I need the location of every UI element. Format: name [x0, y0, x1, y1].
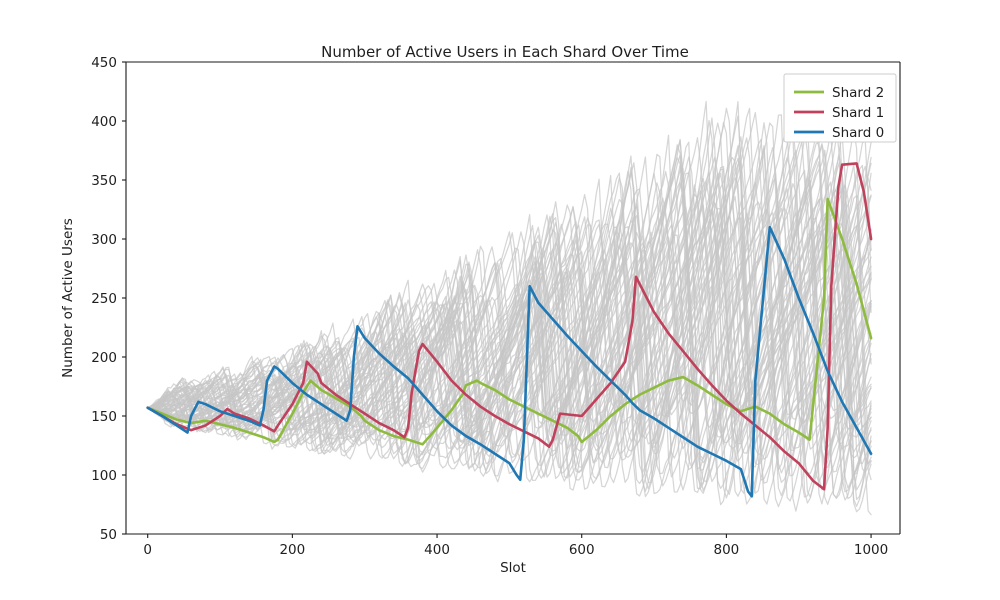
x-axis-title: Slot	[500, 560, 526, 576]
y-tick-label: 400	[91, 114, 117, 130]
y-tick-label: 350	[91, 173, 117, 189]
x-tick-label: 1000	[854, 542, 888, 558]
x-tick-label: 0	[143, 542, 152, 558]
legend-label-shard-0[interactable]: Shard 0	[832, 125, 884, 141]
y-axis-title: Number of Active Users	[60, 218, 76, 378]
y-tick-label: 100	[91, 468, 117, 484]
chart-canvas: Number of Active Users in Each Shard Ove…	[0, 0, 1000, 600]
chart-legend[interactable]: Shard 2Shard 1Shard 0	[784, 74, 896, 142]
chart-figure: Number of Active Users in Each Shard Ove…	[0, 0, 1000, 600]
y-tick-label: 300	[91, 232, 117, 248]
chart-title: Number of Active Users in Each Shard Ove…	[321, 43, 689, 61]
x-tick-label: 200	[279, 542, 305, 558]
x-tick-label: 600	[569, 542, 595, 558]
x-tick-label: 400	[424, 542, 450, 558]
y-tick-label: 450	[91, 55, 117, 71]
y-tick-label: 150	[91, 409, 117, 425]
x-tick-label: 800	[714, 542, 740, 558]
y-tick-label: 250	[91, 291, 117, 307]
y-tick-label: 50	[100, 527, 117, 543]
legend-label-shard-1[interactable]: Shard 1	[832, 105, 884, 121]
y-tick-label: 200	[91, 350, 117, 366]
legend-label-shard-2[interactable]: Shard 2	[832, 85, 884, 101]
